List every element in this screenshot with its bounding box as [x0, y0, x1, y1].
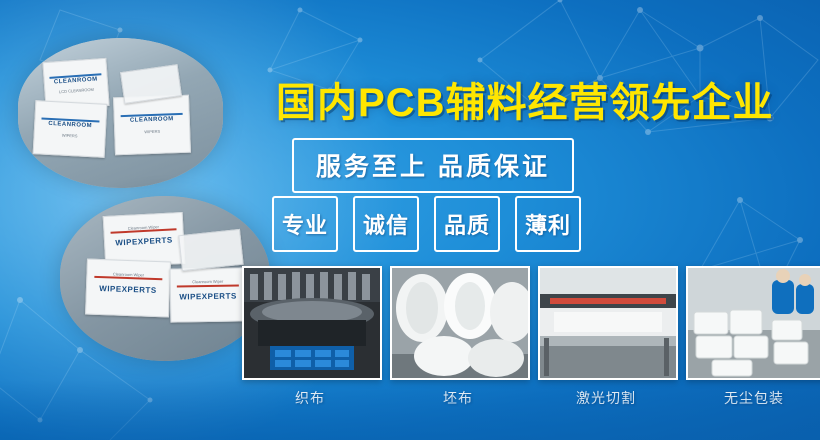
feature-tag-list: 专业 诚信 品质 薄利: [272, 196, 581, 252]
box-label: CLEANROOM: [115, 116, 189, 125]
product-photo-cleanroom-wipes: CLEANROOM LCD CLEANROOM CLEANROOM WIPERS…: [18, 38, 223, 188]
box-label: WIPEXPERTS: [87, 283, 169, 295]
box-sublabel: LCD CLEANROOM: [45, 86, 107, 95]
box-label: WIPEXPERTS: [171, 291, 245, 301]
laser-cutting-photo: [538, 266, 678, 380]
greige-fabric-rolls-photo: [390, 266, 530, 380]
promotional-banner: CLEANROOM LCD CLEANROOM CLEANROOM WIPERS…: [0, 0, 820, 440]
knitting-machine-photo: [242, 266, 382, 380]
box-sublabel: WIPERS: [35, 131, 105, 140]
feature-tag-integrity: 诚信: [353, 196, 419, 252]
subline-text: 服务至上 品质保证: [316, 147, 550, 183]
subline-box: 服务至上 品质保证: [292, 138, 574, 193]
bottom-gradient-overlay: [0, 380, 820, 440]
feature-tag-quality: 品质: [434, 196, 500, 252]
feature-tag-professional: 专业: [272, 196, 338, 252]
headline-title: 国内PCB辅料经营领先企业: [276, 70, 773, 128]
box-sublabel: WIPERS: [115, 128, 189, 136]
feature-tag-low-margin: 薄利: [515, 196, 581, 252]
product-photo-wipexperts: Cleanroom Wiper WIPEXPERTS Cleanroom Wip…: [60, 196, 270, 361]
cleanroom-packing-photo: [686, 266, 820, 380]
box-label: WIPEXPERTS: [105, 235, 183, 248]
